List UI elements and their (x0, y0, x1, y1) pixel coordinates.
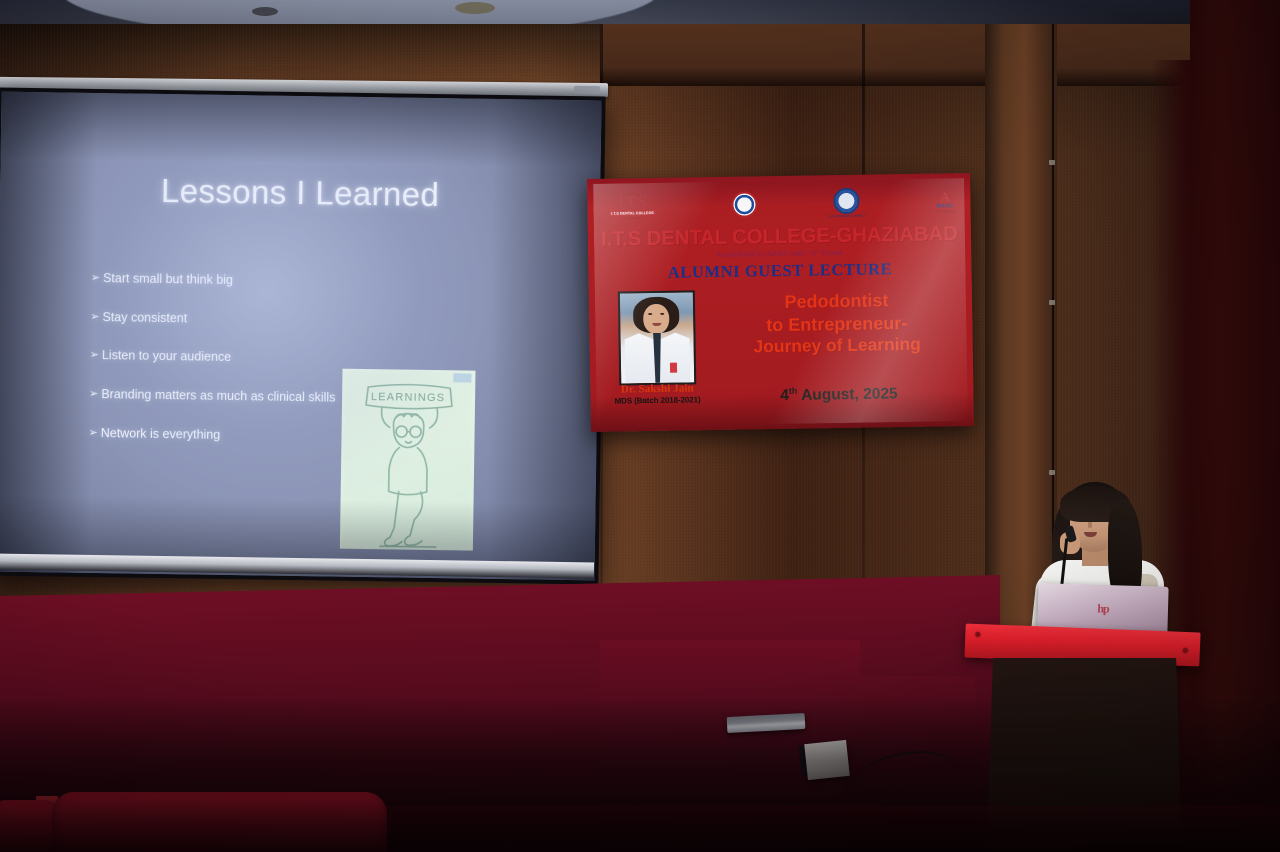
banner-speaker-qualification: MDS (Batch 2018-2021) (600, 395, 714, 406)
banner-topic-line: Journey of Learning (714, 333, 961, 359)
hp-brand-logo: hp (1097, 601, 1109, 616)
logo-caption-secondary: ACCREDITED (936, 209, 955, 213)
arrow-bullet-icon: ➢ (90, 348, 99, 363)
banner-date: 4th August, 2025 (714, 383, 963, 406)
arrow-bullet-icon: ➢ (91, 271, 100, 286)
arrow-bullet-icon: ➢ (90, 310, 99, 325)
audience-seating-shadow (380, 806, 1280, 852)
auditorium-seat (52, 792, 387, 852)
bullet-text: Stay consistent (102, 310, 187, 327)
cable-clip (1049, 300, 1055, 305)
logo-caption: CCS UNIVERSITY MEERUT (828, 215, 865, 219)
portrait-id-badge (670, 363, 677, 373)
learnings-stick-figure-illustration: LEARNINGS (340, 369, 476, 551)
its-dental-college-logo: i.T.S I.T.S DENTAL COLLEGE GHAZIABAD (603, 192, 661, 220)
podium-screw (1183, 648, 1188, 653)
banner-speaker-name: Dr. Sakshi Jain (602, 382, 712, 396)
list-item: ➢ Network is everything (88, 425, 378, 445)
banner-event-type: ALUMNI GUEST LECTURE (594, 258, 965, 284)
banner-date-month-year: August, 2025 (801, 385, 898, 404)
cable-clip (1049, 470, 1055, 475)
ceiling-light-icon (252, 7, 278, 16)
dental-council-logo (732, 191, 758, 217)
arrow-bullet-icon: ➢ (88, 425, 97, 440)
list-item: ➢ Start small but think big (91, 271, 381, 291)
stick-figure-svg: LEARNINGS (340, 369, 476, 551)
projector-screen: Lessons I Learned ➢ Start small but thin… (0, 88, 606, 585)
banner-face: i.T.S I.T.S DENTAL COLLEGE GHAZIABAD CCS… (593, 178, 968, 427)
projected-slide: Lessons I Learned ➢ Start small but thin… (0, 92, 602, 581)
illustration-sign-text: LEARNINGS (371, 391, 446, 404)
logo-caption-secondary: GHAZIABAD (624, 216, 641, 220)
banner-border-frame: i.T.S I.T.S DENTAL COLLEGE GHAZIABAD CCS… (587, 173, 974, 432)
bullet-text: Branding matters as much as clinical ski… (101, 387, 335, 406)
list-item: ➢ Branding matters as much as clinical s… (89, 387, 379, 407)
logo-mark: i.T.S (618, 193, 646, 210)
naac-logo: A NAAC ACCREDITED (935, 190, 954, 213)
banner-date-ordinal: th (789, 386, 798, 396)
bullet-text: Network is everything (101, 426, 221, 443)
banner-logo-row: i.T.S I.T.S DENTAL COLLEGE GHAZIABAD CCS… (593, 181, 965, 227)
naac-grade-mark: A (940, 190, 950, 203)
portrait-face (643, 304, 669, 334)
dental-council-emblem-icon (732, 191, 758, 217)
bullet-text: Listen to your audience (102, 348, 231, 366)
event-banner: i.T.S I.T.S DENTAL COLLEGE GHAZIABAD CCS… (587, 173, 974, 432)
screen-roller-cap (574, 86, 600, 94)
podium-screw (975, 632, 980, 637)
bullet-text: Start small but think big (103, 271, 233, 289)
auditorium-photo-scene: Lessons I Learned ➢ Start small but thin… (0, 0, 1280, 852)
university-emblem-logo: CCS UNIVERSITY MEERUT (828, 187, 866, 218)
ceiling-light-icon (455, 2, 495, 14)
university-emblem-icon (833, 187, 859, 213)
list-item: ➢ Stay consistent (90, 310, 380, 330)
slide-bullet-list: ➢ Start small but think big ➢ Stay consi… (88, 271, 381, 468)
speaker-portrait (618, 290, 696, 385)
banner-topic: Pedodontist to Entrepreneur- Journey of … (713, 288, 961, 359)
slide-title: Lessons I Learned (0, 170, 600, 217)
auditorium-seat (0, 800, 60, 852)
list-item: ➢ Listen to your audience (90, 348, 380, 368)
logo-caption: I.T.S DENTAL COLLEGE (609, 210, 656, 215)
cable-clip (1049, 160, 1055, 165)
arrow-bullet-icon: ➢ (89, 387, 98, 402)
